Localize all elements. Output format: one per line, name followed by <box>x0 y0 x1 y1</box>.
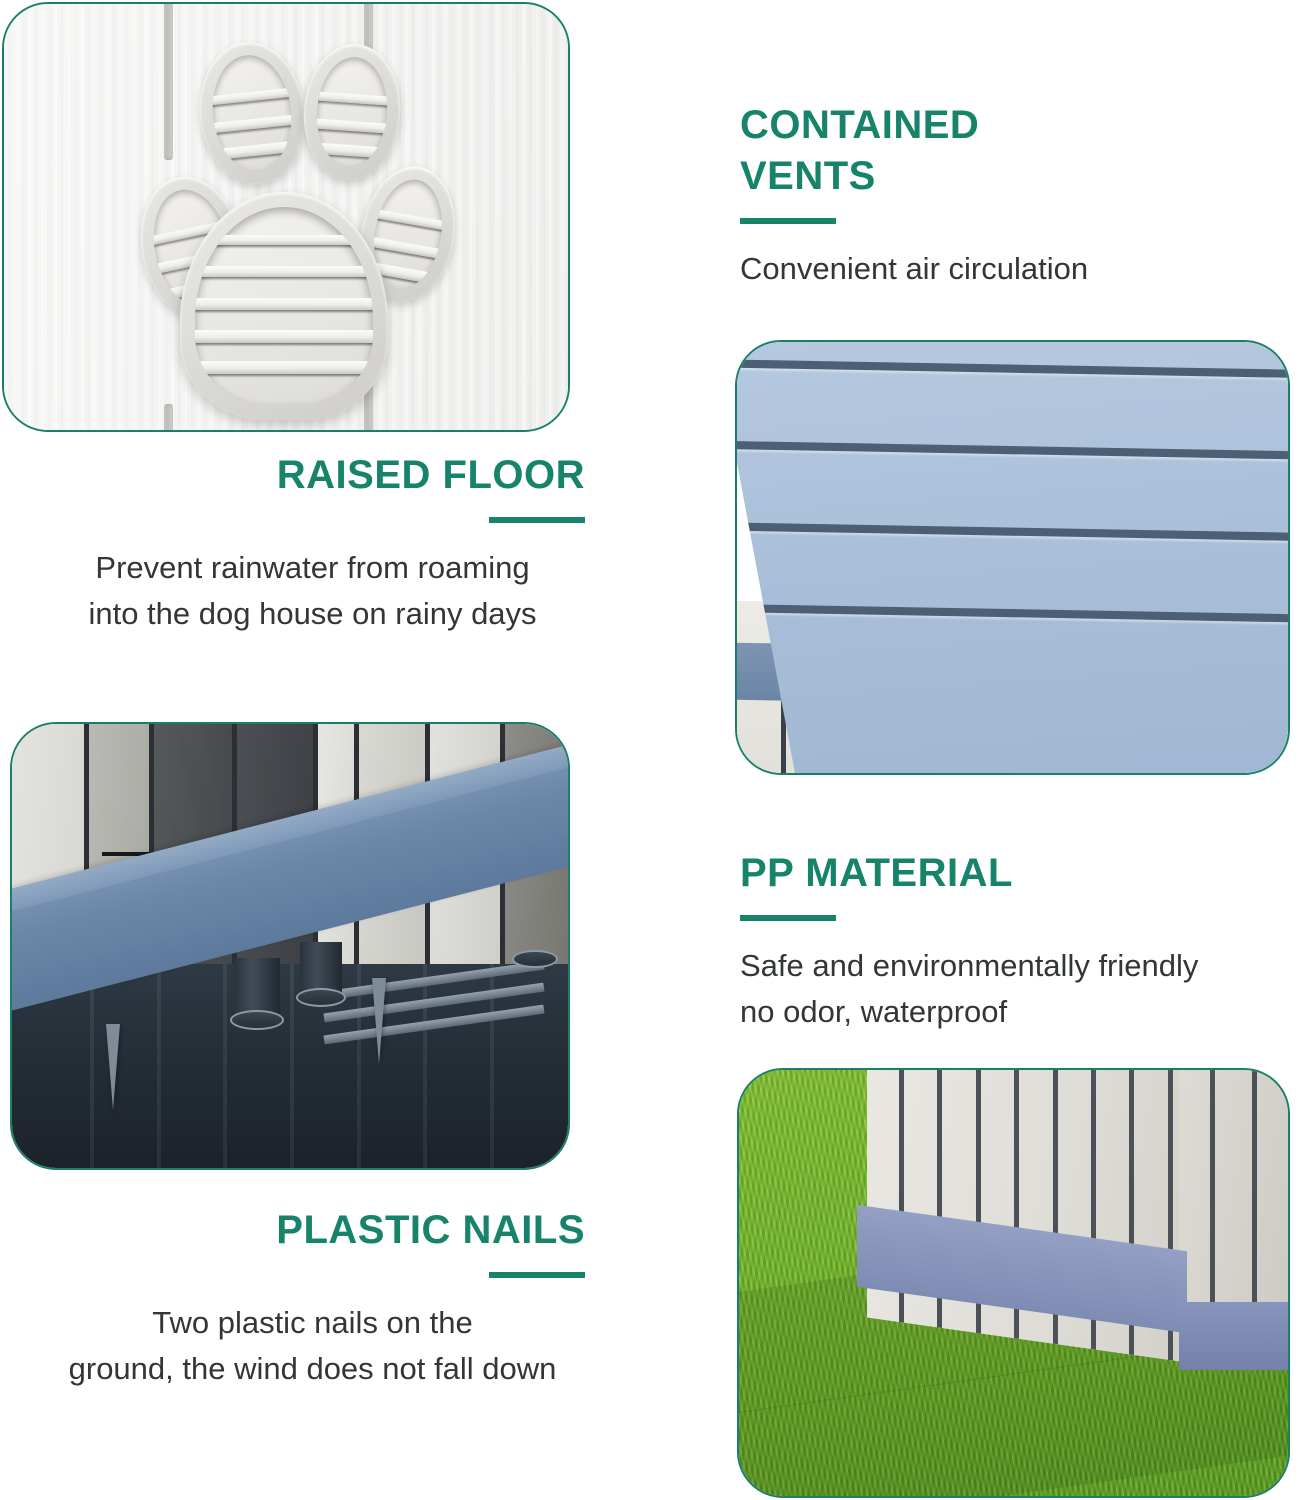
heading-divider <box>489 1272 585 1278</box>
feature-heading: PP MATERIAL <box>740 848 1285 899</box>
feature-body: Prevent rainwater from roaming into the … <box>40 545 585 637</box>
feature-heading: RAISED FLOOR <box>40 450 585 501</box>
toe-vent-louvers <box>313 55 391 170</box>
paw-vent-photo-card <box>2 2 570 432</box>
heading-divider <box>489 517 585 523</box>
leg-socket <box>512 950 558 968</box>
feature-body: Two plastic nails on the ground, the win… <box>40 1300 585 1392</box>
plastic-nails-photo-background <box>12 724 568 1168</box>
plastic-nails-photo-card <box>10 722 570 1170</box>
plastic-nail-spike <box>106 1024 120 1110</box>
infographic-page: RAISED FLOOR Prevent rainwater from roam… <box>0 0 1304 1500</box>
feature-block-raised-floor: RAISED FLOOR Prevent rainwater from roam… <box>40 450 585 637</box>
toe-vent-louvers <box>207 51 297 175</box>
floor-underside-structure <box>12 964 568 1168</box>
feature-heading: CONTAINED VENTS <box>740 100 1285 202</box>
feature-block-pp-material: PP MATERIAL Safe and environmentally fri… <box>740 848 1285 1035</box>
roof-photo-background <box>737 342 1288 773</box>
heading-divider <box>740 915 836 921</box>
paw-pad-louvers <box>195 207 373 405</box>
feature-body: Convenient air circulation <box>740 246 1285 292</box>
house-base-rail-front <box>1179 1302 1288 1370</box>
feature-body: Safe and environmentally friendly no odo… <box>740 943 1285 1035</box>
feature-block-plastic-nails: PLASTIC NAILS Two plastic nails on the g… <box>40 1205 585 1392</box>
siding-seam <box>164 404 173 432</box>
feature-heading: PLASTIC NAILS <box>40 1205 585 1256</box>
roof-slat-surface <box>737 342 1288 773</box>
heading-divider <box>740 218 836 224</box>
roof-panel-photo-card <box>735 340 1290 775</box>
feature-block-contained-vents: CONTAINED VENTS Convenient air circulati… <box>740 100 1285 292</box>
plastic-nail-spike <box>372 978 386 1064</box>
grass-base-photo-card <box>737 1068 1290 1498</box>
leg-socket-tube <box>234 958 280 1018</box>
house-front-wall <box>1179 1070 1288 1330</box>
siding-seam <box>164 2 173 160</box>
grass-lawn-background <box>739 1070 1288 1496</box>
leg-socket <box>230 1010 284 1030</box>
leg-socket <box>296 988 346 1007</box>
